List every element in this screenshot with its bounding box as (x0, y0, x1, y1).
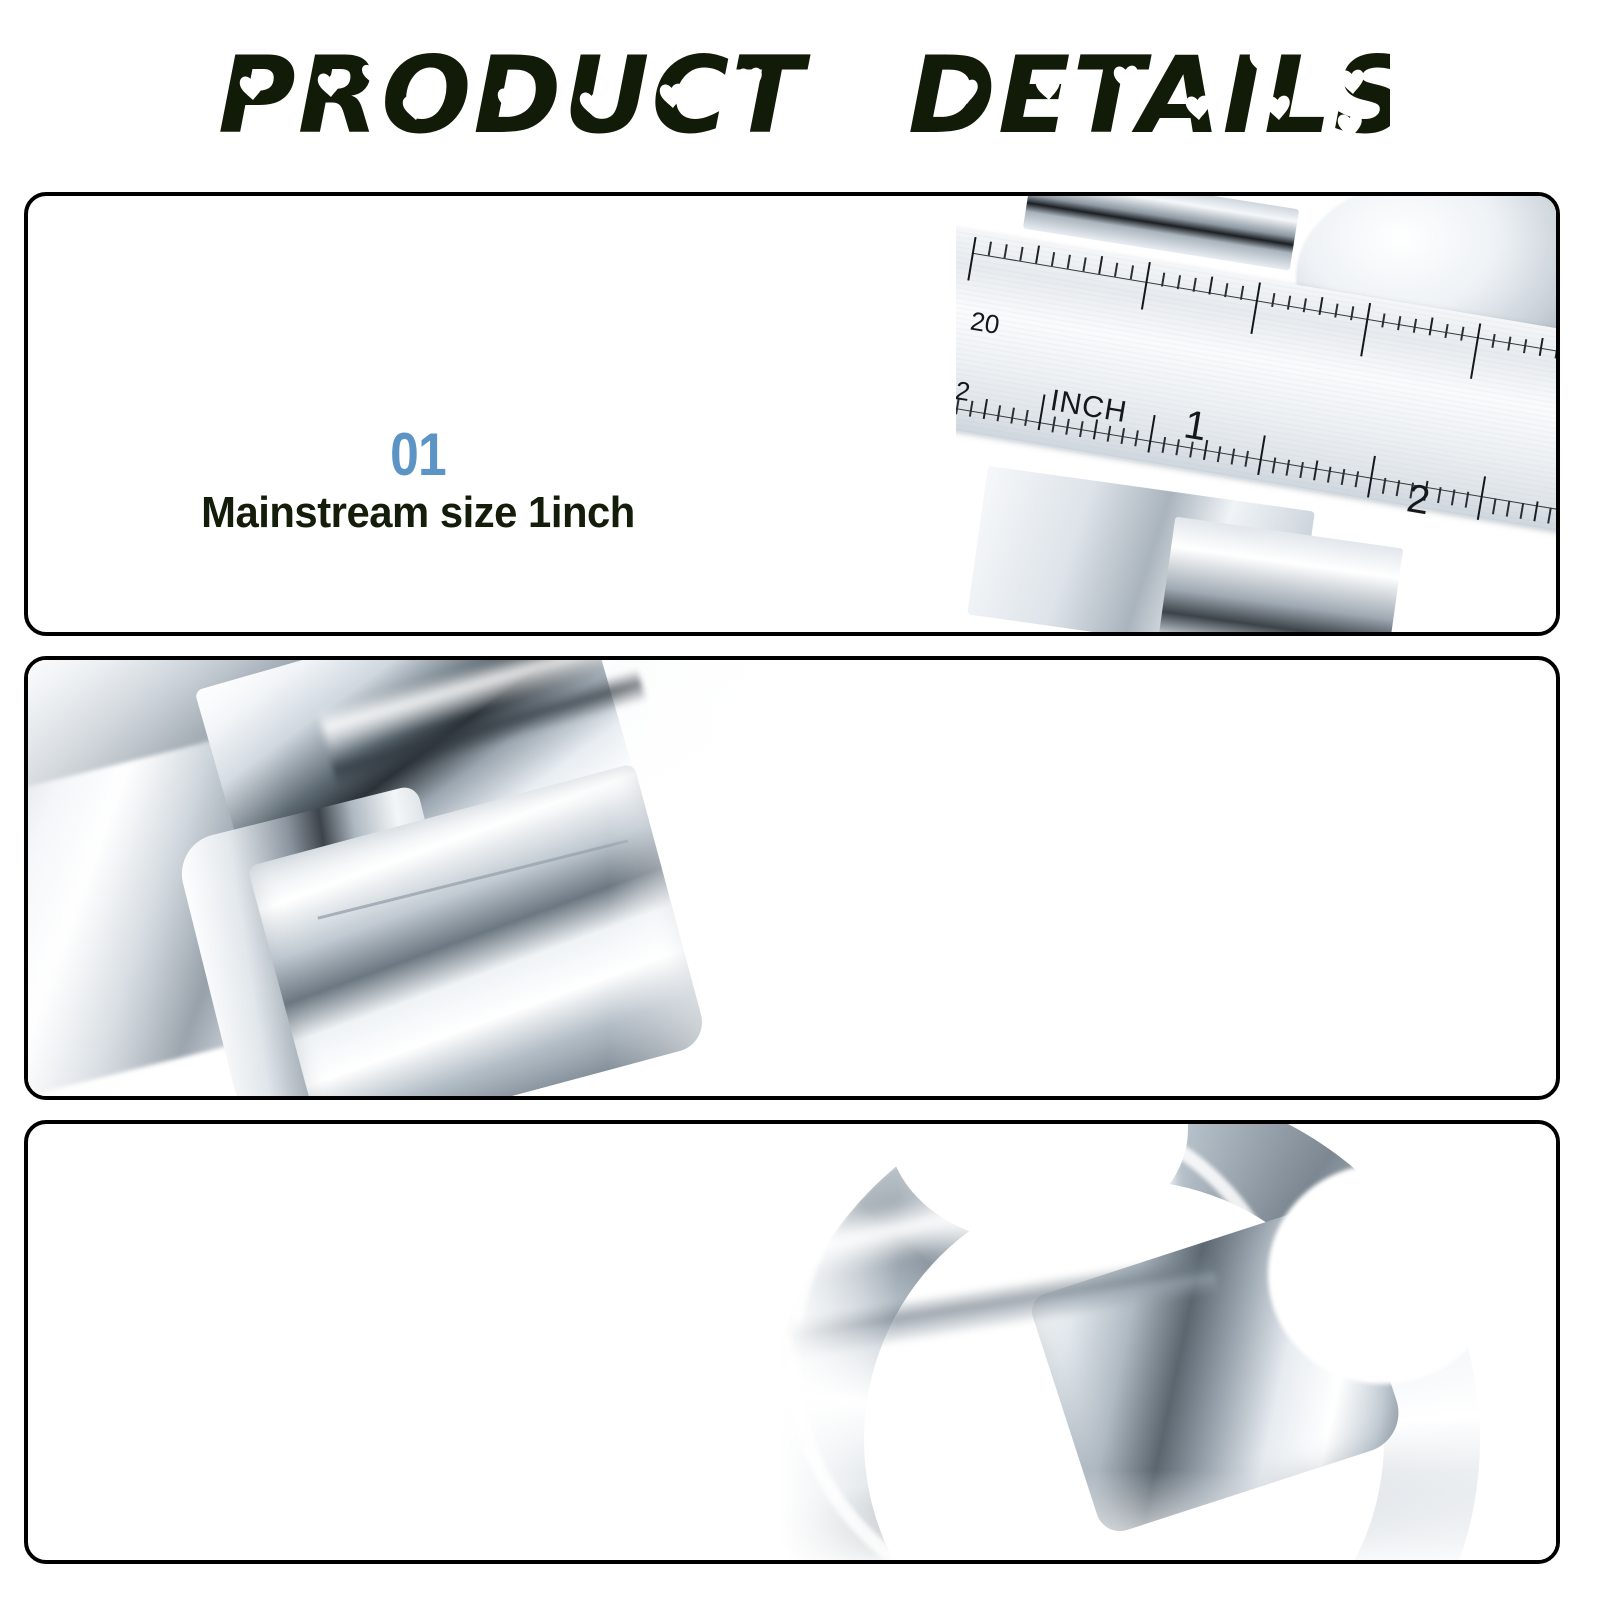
photo-fade-bottom (728, 1470, 1556, 1560)
page-title: PRODUCT DETAILS (0, 18, 1600, 168)
page-title-graphic: PRODUCT DETAILS (210, 28, 1390, 158)
detail-panel-01: 20 32 INCH 1 2 01 Mainstream size 1inch (24, 192, 1560, 636)
steel-ruler-photo: 20 32 INCH 1 2 (956, 196, 1556, 632)
photo-fade-right (608, 660, 838, 1096)
detail-text-01: 01 Mainstream size 1inch (88, 424, 748, 536)
detail-number-01: 01 (134, 424, 702, 485)
caliper-bottom-jaw-2 (1159, 517, 1403, 632)
ruler-label-32: 32 (956, 373, 972, 408)
hoop-right-cutout (1268, 1164, 1498, 1384)
ruler-label-inch: INCH (1048, 384, 1130, 430)
detail-headline-01: Mainstream size 1inch (105, 491, 732, 536)
chrome-drum-hoop-photo (728, 1124, 1556, 1560)
photo-fade-left (28, 660, 288, 1096)
chrome-lug-photo (28, 660, 838, 1096)
title-heart-decorations (239, 49, 1365, 139)
ruler-label-20: 20 (968, 306, 1002, 341)
title-word-details: DETAILS (908, 34, 1390, 157)
detail-panel-03: 03 Drum rim guard design does not hurt y… (24, 1120, 1560, 1564)
title-word-product: PRODUCT (218, 34, 811, 157)
detail-panel-02: 02 Reinforced welding is more secure (24, 656, 1560, 1100)
